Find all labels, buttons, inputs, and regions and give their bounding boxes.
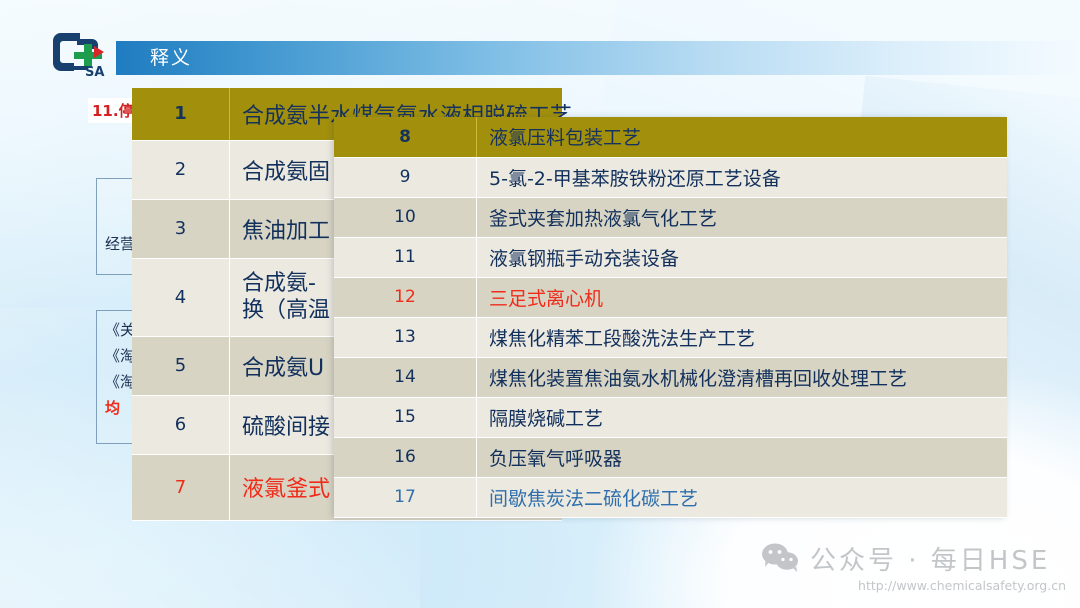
row-number: 7 bbox=[132, 454, 230, 520]
logo-text: SA bbox=[85, 65, 104, 80]
row-text: 负压氧气呼吸器 bbox=[477, 437, 1008, 477]
row-number: 2 bbox=[132, 140, 230, 199]
watermark-row: 公众号 · 每日HSE bbox=[760, 540, 1070, 577]
row-number: 1 bbox=[132, 88, 230, 140]
row-text: 煤焦化精苯工段酸洗法生产工艺 bbox=[477, 317, 1008, 357]
row-number: 13 bbox=[334, 317, 477, 357]
table-right-body: 8液氯压料包装工艺95-氯-2-甲基苯胺铁粉还原工艺设备10釜式夹套加热液氯气化… bbox=[334, 117, 1007, 517]
row-number: 11 bbox=[334, 237, 477, 277]
background-box-upper-text: 经营 bbox=[105, 231, 135, 257]
row-text: 煤焦化装置焦油氨水机械化澄清槽再回收处理工艺 bbox=[477, 357, 1008, 397]
table-row: 16负压氧气呼吸器 bbox=[334, 437, 1007, 477]
row-number: 4 bbox=[132, 258, 230, 336]
background-box-line-1: 《关 bbox=[105, 317, 135, 343]
row-text: 釜式夹套加热液氯气化工艺 bbox=[477, 197, 1008, 237]
table-row: 11液氯钢瓶手动充装设备 bbox=[334, 237, 1007, 277]
row-text: 液氯压料包装工艺 bbox=[477, 117, 1008, 157]
watermark: 公众号 · 每日HSE http://www.chemicalsafety.or… bbox=[760, 540, 1070, 598]
background-box-lower-lines: 《关 《淘 《淘 均 bbox=[105, 317, 135, 421]
row-text: 间歇焦炭法二硫化碳工艺 bbox=[477, 477, 1008, 517]
background-box-line-3: 《淘 bbox=[105, 369, 135, 395]
row-number: 9 bbox=[334, 157, 477, 197]
row-number: 5 bbox=[132, 336, 230, 395]
row-number: 10 bbox=[334, 197, 477, 237]
csa-emblem-logo: SA bbox=[50, 30, 112, 80]
table-row: 14煤焦化装置焦油氨水机械化澄清槽再回收处理工艺 bbox=[334, 357, 1007, 397]
slide-canvas: SA 释义 11.停 经营 《关 《淘 《淘 均 1合成氨半水煤气氨水液相脱硫工… bbox=[0, 0, 1080, 608]
row-text: 隔膜烧碱工艺 bbox=[477, 397, 1008, 437]
table-row: 13煤焦化精苯工段酸洗法生产工艺 bbox=[334, 317, 1007, 357]
row-number: 6 bbox=[132, 395, 230, 454]
table-row: 15隔膜烧碱工艺 bbox=[334, 397, 1007, 437]
table-row: 17间歇焦炭法二硫化碳工艺 bbox=[334, 477, 1007, 517]
background-box-line-4: 均 bbox=[105, 395, 135, 421]
row-number: 12 bbox=[334, 277, 477, 317]
page-title: 释义 bbox=[150, 41, 192, 75]
table-row: 10釜式夹套加热液氯气化工艺 bbox=[334, 197, 1007, 237]
row-number: 8 bbox=[334, 117, 477, 157]
watermark-text: 公众号 · 每日HSE bbox=[810, 540, 1050, 577]
slide-title-bar: 释义 bbox=[116, 41, 1080, 75]
row-number: 17 bbox=[334, 477, 477, 517]
background-red-note: 11.停 bbox=[88, 98, 138, 123]
table-row: 12三足式离心机 bbox=[334, 277, 1007, 317]
table-row: 8液氯压料包装工艺 bbox=[334, 117, 1007, 157]
row-number: 16 bbox=[334, 437, 477, 477]
wechat-icon bbox=[760, 542, 800, 576]
watermark-url: http://www.chemicalsafety.org.cn bbox=[858, 578, 1066, 593]
row-number: 15 bbox=[334, 397, 477, 437]
row-text: 液氯钢瓶手动充装设备 bbox=[477, 237, 1008, 277]
row-number: 14 bbox=[334, 357, 477, 397]
row-text: 三足式离心机 bbox=[477, 277, 1008, 317]
background-box-line-2: 《淘 bbox=[105, 343, 135, 369]
process-list-table-part2: 8液氯压料包装工艺95-氯-2-甲基苯胺铁粉还原工艺设备10釜式夹套加热液氯气化… bbox=[334, 117, 1007, 518]
table-row: 95-氯-2-甲基苯胺铁粉还原工艺设备 bbox=[334, 157, 1007, 197]
row-number: 3 bbox=[132, 199, 230, 258]
row-text: 5-氯-2-甲基苯胺铁粉还原工艺设备 bbox=[477, 157, 1008, 197]
